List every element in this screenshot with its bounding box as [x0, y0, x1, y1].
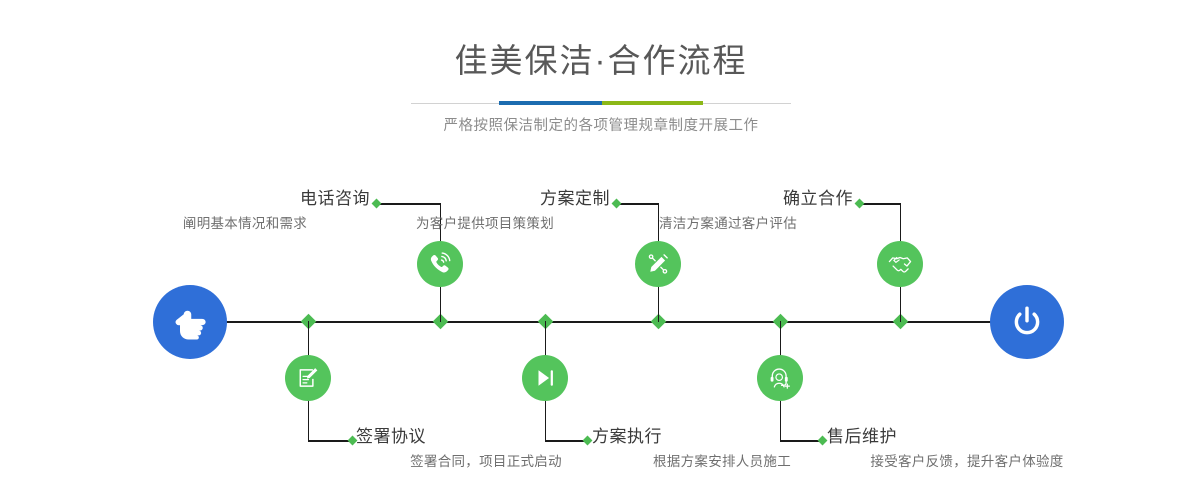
pointing-hand-icon: [170, 302, 210, 342]
step-icon-phone-call[interactable]: [417, 241, 463, 287]
connector-horizontal: [780, 440, 823, 442]
flowchart-canvas: 佳美保洁·合作流程 严格按照保洁制定的各项管理规章制度开展工作: [0, 0, 1202, 502]
step-label-bottom: 售后维护 接受客户反馈，提升客户体验度: [827, 428, 1107, 469]
customer-service-icon: [767, 365, 793, 391]
timeline-end-marker[interactable]: [990, 285, 1064, 359]
step-desc: 阐明基本情况和需求: [120, 217, 370, 231]
connector-horizontal: [308, 440, 353, 442]
process-timeline: 电话咨询 阐明基本情况和需求 签署协议 签署合同，项目正式启动: [0, 0, 1202, 502]
step-title: 方案定制: [360, 190, 610, 207]
step-label-top: 电话咨询 阐明基本情况和需求: [120, 190, 370, 231]
step-label-top: 确立合作 清洁方案通过客户评估: [603, 190, 853, 231]
step-title: 确立合作: [603, 190, 853, 207]
step-label-bottom: 方案执行 根据方案安排人员施工: [592, 428, 852, 469]
step-icon-handshake[interactable]: [877, 241, 923, 287]
power-icon: [1007, 302, 1047, 342]
connector-tip-dot: [855, 198, 865, 208]
play-execute-icon: [532, 365, 558, 391]
step-icon-customer-service[interactable]: [757, 355, 803, 401]
step-label-top: 方案定制 为客户提供项目策策划: [360, 190, 610, 231]
step-label-bottom: 签署协议 签署合同，项目正式启动: [356, 428, 616, 469]
phone-call-icon: [427, 251, 453, 277]
timeline-start-marker[interactable]: [153, 285, 227, 359]
step-desc: 清洁方案通过客户评估: [603, 217, 853, 231]
step-desc: 根据方案安排人员施工: [592, 455, 852, 469]
step-title: 售后维护: [827, 428, 1107, 445]
step-icon-sign-document[interactable]: [285, 355, 331, 401]
step-title: 签署协议: [356, 428, 616, 445]
handshake-icon: [887, 251, 913, 277]
pencil-design-icon: [645, 251, 671, 277]
sign-document-icon: [295, 365, 321, 391]
step-desc: 签署合同，项目正式启动: [356, 455, 616, 469]
step-title: 电话咨询: [120, 190, 370, 207]
step-icon-play-execute[interactable]: [522, 355, 568, 401]
connector-horizontal: [545, 440, 588, 442]
connector-horizontal: [860, 203, 900, 205]
step-desc: 接受客户反馈，提升客户体验度: [827, 455, 1107, 469]
step-title: 方案执行: [592, 428, 852, 445]
step-icon-pencil-design[interactable]: [635, 241, 681, 287]
step-desc: 为客户提供项目策策划: [360, 217, 610, 231]
